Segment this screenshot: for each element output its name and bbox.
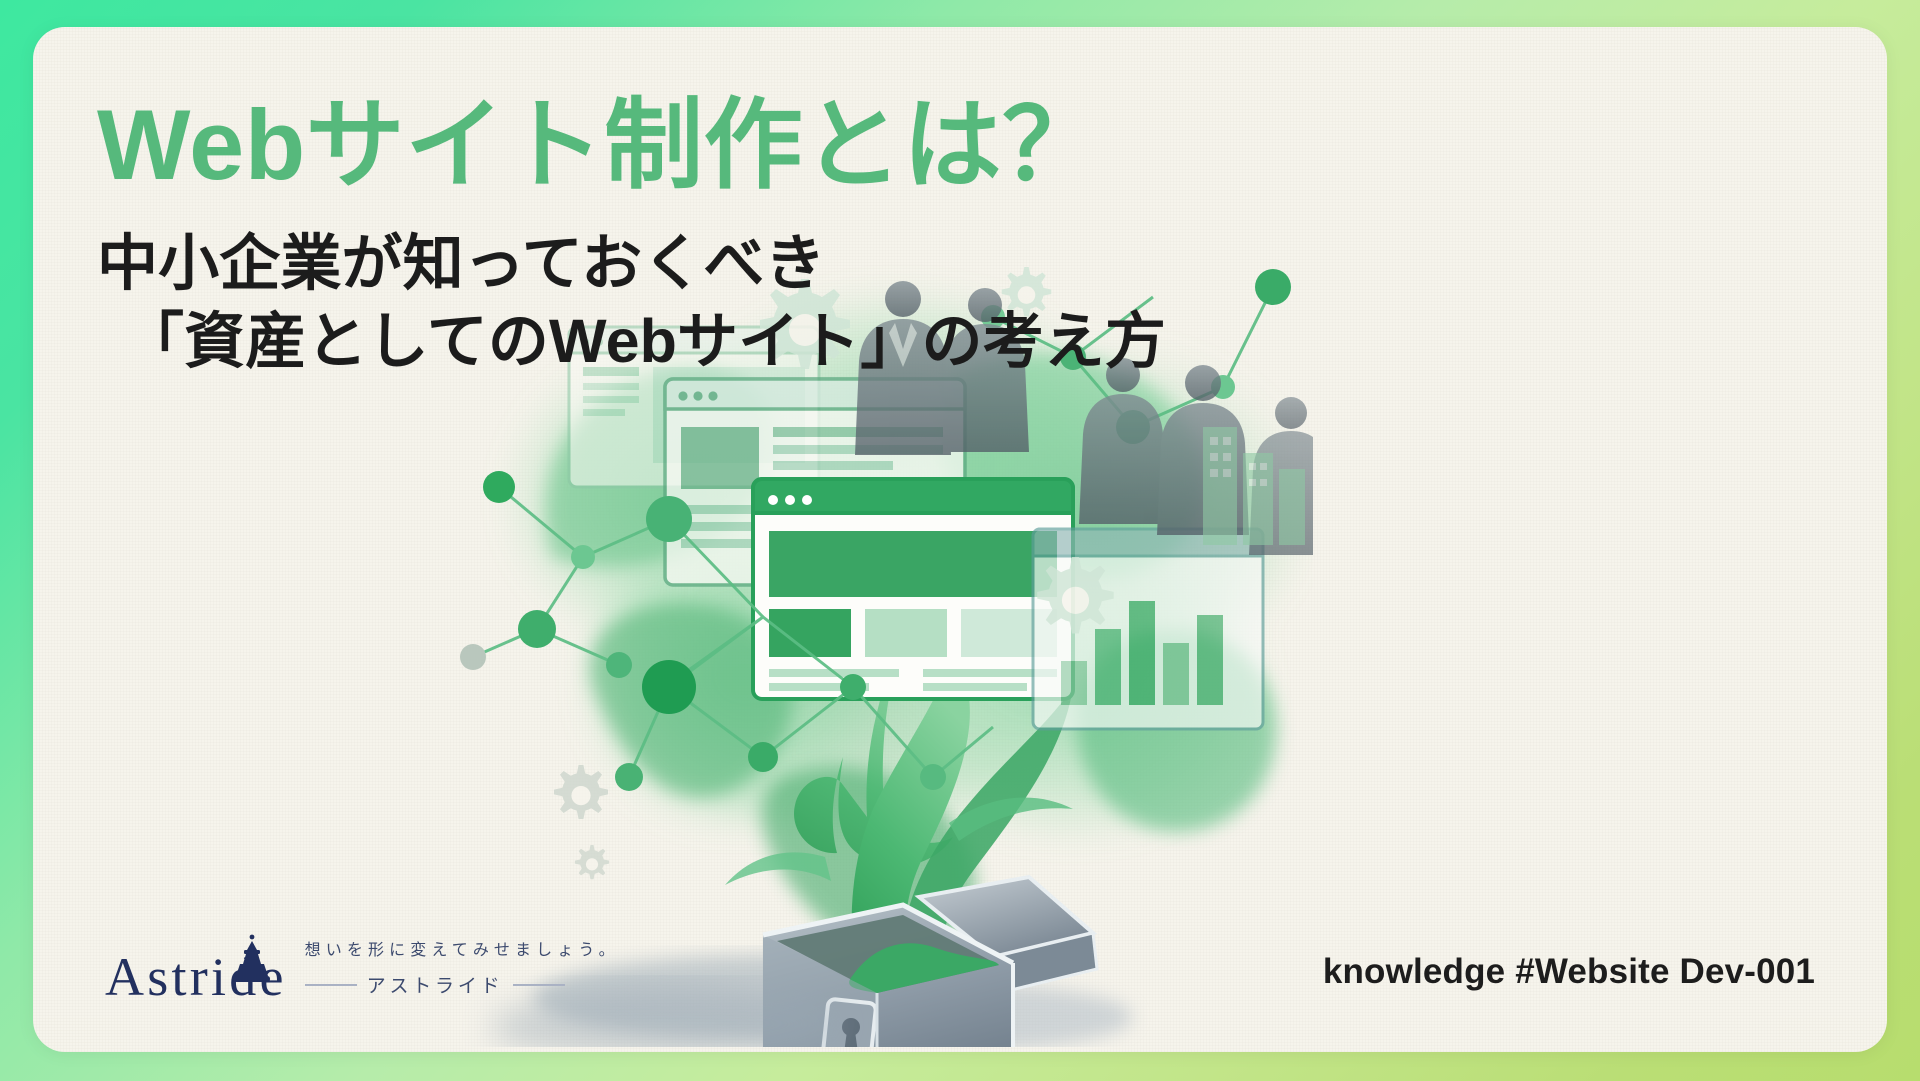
brand-wordmark: Astride xyxy=(105,950,287,1004)
subtitle-line-2: 「資産としてのWebサイト」の考え方 xyxy=(97,302,1166,380)
gear-icon-left-lower xyxy=(554,765,608,819)
brand-tagline-group: 想いを形に変えてみせましょう。 アストライド xyxy=(305,940,620,1004)
gear-icon-right xyxy=(1037,557,1114,634)
subtitle-line-1: 中小企業が知っておくべき xyxy=(97,224,1166,302)
brand-name-row: アストライド xyxy=(305,971,620,998)
gear-icon-left-small xyxy=(575,845,609,879)
dashboard-chart-panel xyxy=(1033,529,1263,729)
browser-window-front xyxy=(753,479,1073,699)
slide-card: Webサイト制作とは？ 中小企業が知っておくべき 「資産としてのWebサイト」の… xyxy=(33,27,1887,1052)
brand-logo[interactable]: Astride 想いを形に変えてみせましょう。 アストライド xyxy=(105,940,620,1004)
brand-tagline: 想いを形に変えてみせましょう。 xyxy=(305,940,620,962)
rule-left xyxy=(305,984,357,986)
lighthouse-icon xyxy=(229,934,275,986)
brand-name-ja: アストライド xyxy=(367,971,504,998)
knowledge-tag: knowledge #Website Dev-001 xyxy=(1323,952,1815,992)
rule-right xyxy=(513,984,565,986)
page-title: Webサイト制作とは？ xyxy=(97,89,1166,202)
headline-block: Webサイト制作とは？ 中小企業が知っておくべき 「資産としてのWebサイト」の… xyxy=(97,89,1166,380)
brand-mark: Astride xyxy=(105,950,287,1004)
